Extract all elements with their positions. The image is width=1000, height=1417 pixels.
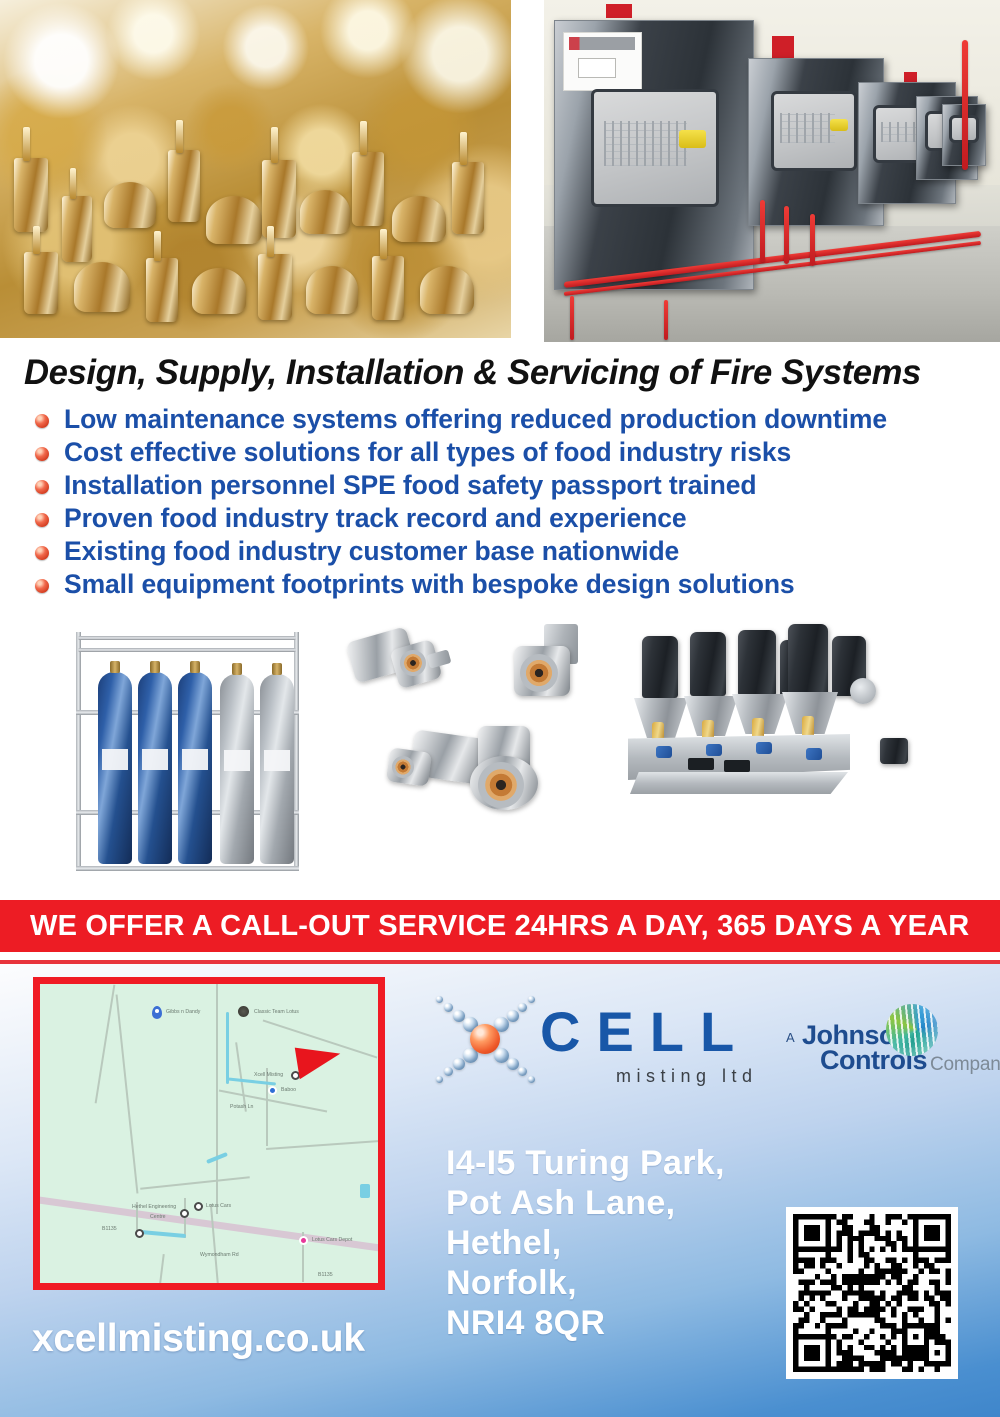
benefits-list: Low maintenance systems offering reduced… [32, 403, 982, 601]
address-line: NRI4 8QR [446, 1303, 776, 1343]
address-line: Norfolk, [446, 1263, 776, 1303]
callout-service-banner: WE OFFER A CALL-OUT SERVICE 24HRS A DAY,… [0, 900, 1000, 952]
johnson-controls-logo: A Johnson Controls Company [786, 1002, 976, 1088]
qr-code-website-link[interactable] [786, 1207, 958, 1379]
list-item-label: Existing food industry customer base nat… [64, 536, 679, 566]
address-line: I4-I5 Turing Park, [446, 1143, 776, 1183]
bullet-dot-icon [35, 546, 49, 560]
red-location-arrow-icon [295, 1041, 343, 1079]
callout-banner-text: WE OFFER A CALL-OUT SERVICE 24HRS A DAY,… [30, 900, 969, 952]
johnson-controls-globe-icon [886, 1004, 938, 1056]
services-copy-block: Design, Supply, Installation & Servicing… [0, 345, 1000, 600]
fire-control-panels-wall-photo [544, 0, 1000, 342]
website-url[interactable]: xcellmisting.co.uk [32, 1317, 365, 1361]
gas-cylinder-bank-image [68, 614, 308, 876]
qr-code-canvas [793, 1214, 951, 1372]
bullet-dot-icon [35, 414, 49, 428]
bullet-dot-icon [35, 480, 49, 494]
pump-skid-image [628, 622, 936, 837]
list-item: Small equipment footprints with bespoke … [32, 568, 982, 601]
callout-banner-wrap: WE OFFER A CALL-OUT SERVICE 24HRS A DAY,… [0, 895, 1000, 960]
list-item-label: Installation personnel SPE food safety p… [64, 470, 756, 500]
top-photo-row [0, 0, 1000, 345]
brass-misting-nozzles-photo [0, 0, 511, 338]
bullet-dot-icon [35, 579, 49, 593]
list-item: Proven food industry track record and ex… [32, 502, 982, 535]
jc-suffix: Company [930, 1054, 1000, 1076]
jc-prefix: A [786, 1030, 795, 1045]
company-address: I4-I5 Turing Park, Pot Ash Lane, Hethel,… [446, 1143, 776, 1343]
x-sphere-mark-icon [432, 988, 544, 1092]
product-image-row [0, 600, 1000, 895]
list-item: Low maintenance systems offering reduced… [32, 403, 982, 436]
logo-word: CELL [540, 1004, 750, 1060]
bullet-dot-icon [35, 513, 49, 527]
address-line: Hethel, [446, 1223, 776, 1263]
xcell-logo: CELL misting ltd [432, 982, 762, 1102]
list-item: Existing food industry customer base nat… [32, 535, 982, 568]
list-item: Installation personnel SPE food safety p… [32, 469, 982, 502]
panel-top-rule [0, 960, 1000, 964]
list-item-label: Cost effective solutions for all types o… [64, 437, 791, 467]
advertisement-page: Design, Supply, Installation & Servicing… [0, 0, 1000, 1417]
misting-nozzles-image [340, 620, 620, 870]
bullet-dot-icon [35, 447, 49, 461]
page-title: Design, Supply, Installation & Servicing… [24, 353, 966, 393]
list-item: Cost effective solutions for all types o… [32, 436, 982, 469]
list-item-label: Proven food industry track record and ex… [64, 503, 687, 533]
logo-tagline: misting ltd [616, 1066, 758, 1087]
list-item-label: Low maintenance systems offering reduced… [64, 404, 887, 434]
address-line: Pot Ash Lane, [446, 1183, 776, 1223]
list-item-label: Small equipment footprints with bespoke … [64, 569, 795, 599]
x-center-sphere-icon [470, 1024, 500, 1054]
contact-panel: Gibbs n Dandy Classic Team Lotus Xcell M… [0, 960, 1000, 1417]
location-map[interactable]: Gibbs n Dandy Classic Team Lotus Xcell M… [33, 977, 385, 1290]
